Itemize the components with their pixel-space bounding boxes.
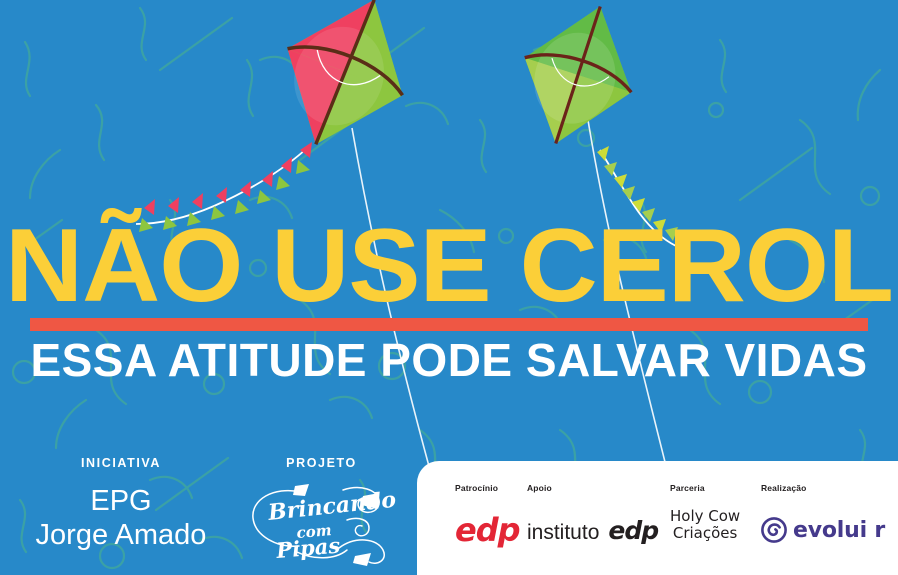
edp-logo-text: edp	[455, 514, 520, 546]
right-kite	[502, 0, 653, 161]
holy-cow-criacoes-logo[interactable]: Holy Cow Criações	[670, 505, 740, 545]
left-kite	[258, 0, 431, 168]
sponsor-apoio: Apoio instituto edp	[527, 483, 658, 550]
sponsor-label-realizacao: Realização	[761, 483, 885, 493]
holy-cow-logo-wrap: Holy Cow Criações	[670, 508, 740, 542]
initiative-name-line2: Jorge Amado	[36, 518, 207, 552]
credit-initiative: INICIATIVA EPG Jorge Amado	[8, 448, 234, 552]
edp-logo[interactable]: edp	[455, 510, 520, 550]
poster: NÃO USE CEROL ESSA ATITUDE PODE SALVAR V…	[0, 0, 898, 575]
sponsor-patrocinio: Patrocínio edp	[455, 483, 520, 550]
holy-cow-line1: Holy Cow	[670, 508, 740, 525]
holy-cow-line2: Criações	[670, 525, 740, 542]
evoluir-logo-text: evolui r	[793, 518, 885, 543]
initiative-name-line1: EPG	[36, 484, 207, 518]
subhead: ESSA ATITUDE PODE SALVAR VIDAS	[0, 334, 898, 386]
sponsor-label-parceria: Parceria	[670, 483, 740, 493]
credit-project: PROJETO	[234, 448, 409, 571]
initiative-name: EPG Jorge Amado	[36, 484, 207, 552]
sponsor-label-apoio: Apoio	[527, 483, 658, 493]
evoluir-logo-wrap: evolui r	[761, 517, 885, 543]
svg-text:Brincando: Brincando	[265, 487, 396, 526]
initiative-label: INICIATIVA	[81, 456, 161, 470]
instituto-edp-logo-wrap: instituto edp	[527, 516, 658, 545]
sponsor-parceria: Parceria Holy Cow Criações	[670, 483, 740, 545]
instituto-edp-text: edp	[608, 516, 658, 545]
project-label: PROJETO	[286, 456, 357, 470]
headline-block: NÃO USE CEROL	[0, 214, 898, 318]
subhead-block: ESSA ATITUDE PODE SALVAR VIDAS	[0, 334, 898, 386]
sponsor-row: Patrocínio edp Apoio instituto edp Parce…	[417, 461, 898, 575]
brincando-com-pipas-logo: Brincando com Pipas	[243, 474, 401, 571]
instituto-edp-logo[interactable]: instituto edp	[527, 510, 658, 550]
evoluir-spiral-icon	[761, 517, 787, 543]
sponsor-realizacao: Realização evolui r	[761, 483, 885, 550]
sponsor-panel: Patrocínio edp Apoio instituto edp Parce…	[417, 461, 898, 575]
instituto-text: instituto	[527, 521, 599, 545]
svg-text:Pipas: Pipas	[274, 532, 341, 563]
sponsor-label-patrocinio: Patrocínio	[455, 483, 520, 493]
divider-rule	[30, 318, 868, 331]
evoluir-logo[interactable]: evolui r	[761, 510, 885, 550]
credits: INICIATIVA EPG Jorge Amado PROJETO	[0, 448, 417, 575]
headline: NÃO USE CEROL	[0, 214, 898, 318]
